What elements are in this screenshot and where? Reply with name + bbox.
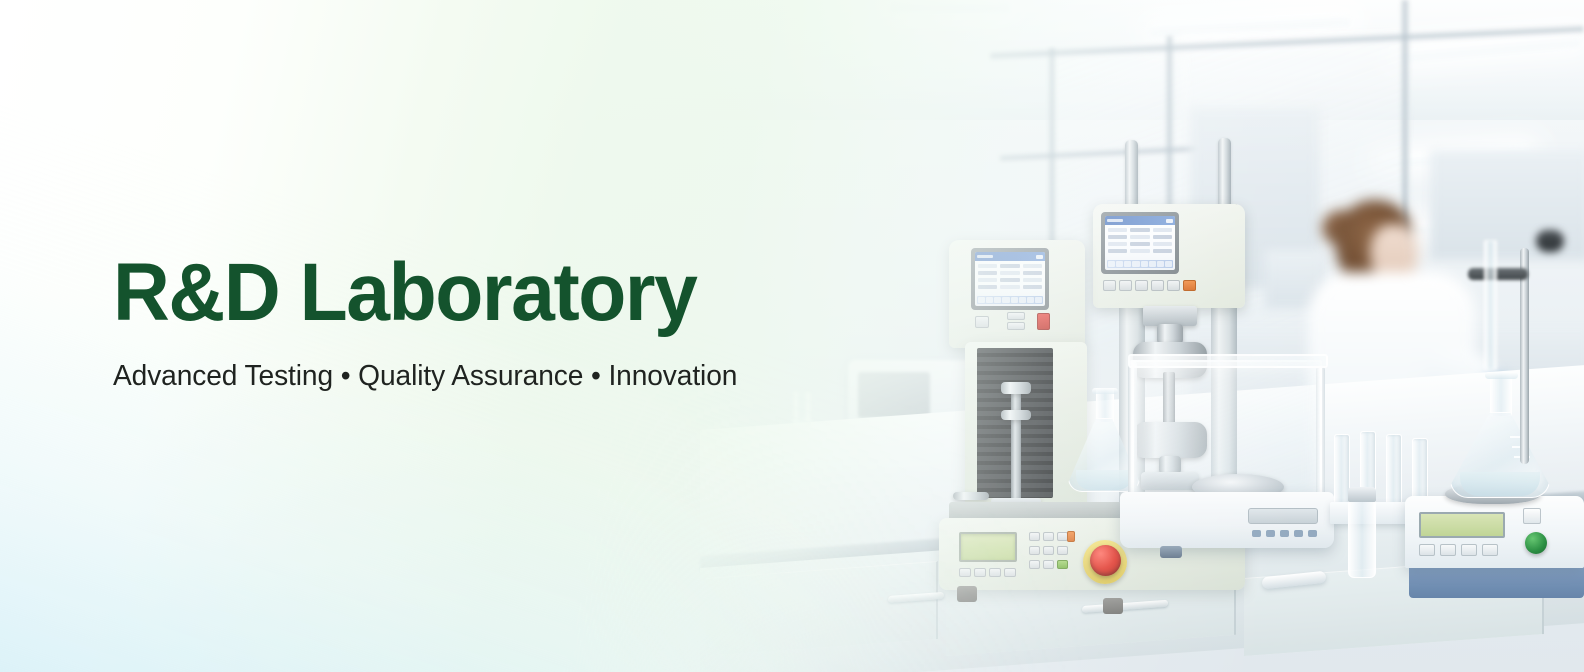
hero-banner: R&D Laboratory Advanced Testing • Qualit…	[0, 0, 1584, 672]
hero-copy: R&D Laboratory Advanced Testing • Qualit…	[113, 252, 757, 393]
hero-subtitle: Advanced Testing • Quality Assurance • I…	[113, 360, 737, 393]
page-title: R&D Laboratory	[113, 252, 731, 334]
